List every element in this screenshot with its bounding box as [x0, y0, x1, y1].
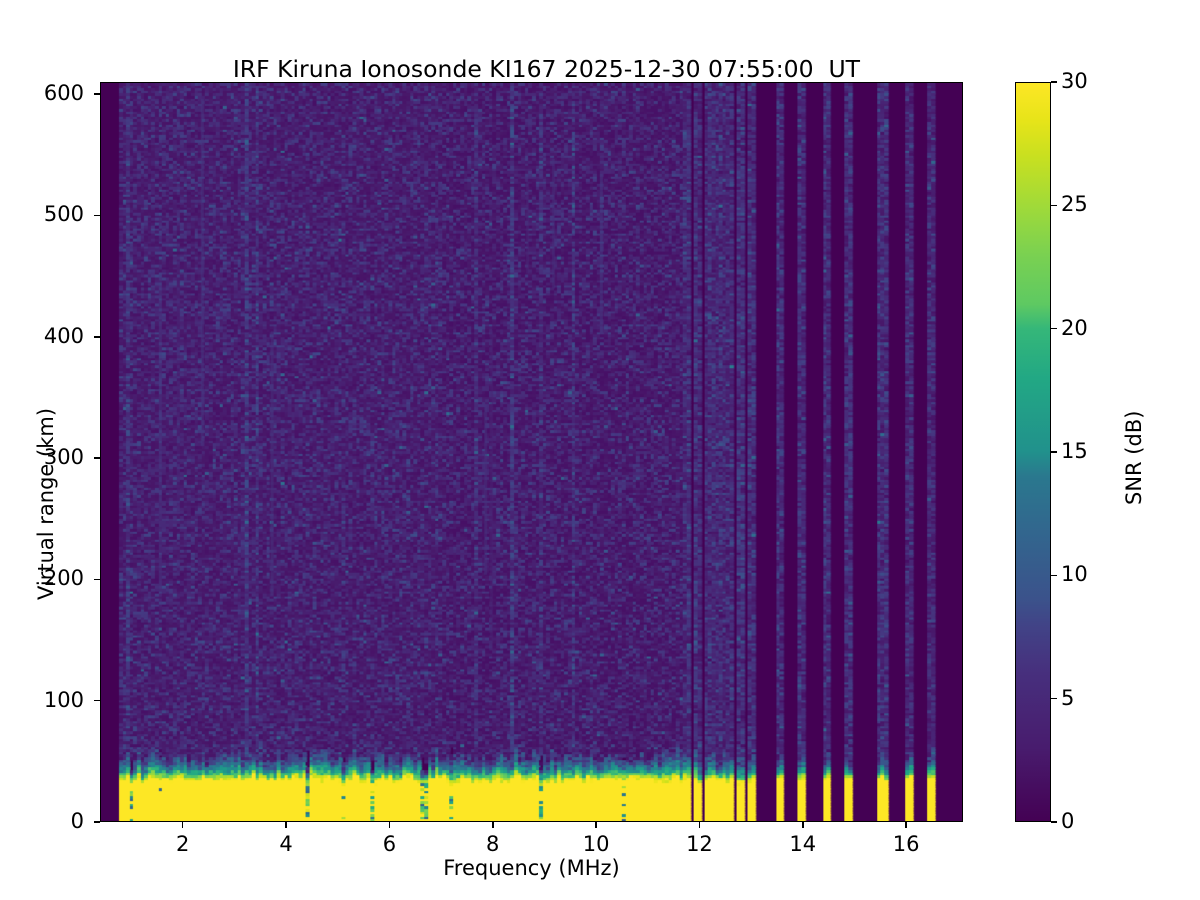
colorbar-tick-label: 15 [1061, 439, 1088, 463]
y-tick-mark [94, 821, 100, 823]
y-tick-label: 0 [0, 809, 84, 833]
colorbar-gradient [1015, 82, 1051, 822]
y-axis-label: Virtual range (km) [34, 408, 58, 600]
colorbar-tick-mark [1051, 821, 1057, 823]
y-tick-mark [94, 700, 100, 702]
y-tick-mark [94, 93, 100, 95]
y-tick-label: 500 [0, 202, 84, 226]
x-tick-mark [595, 822, 597, 828]
x-tick-label: 12 [659, 832, 739, 856]
colorbar-tick-label: 30 [1061, 69, 1088, 93]
y-tick-label: 600 [0, 81, 84, 105]
colorbar-tick-mark [1051, 81, 1057, 83]
x-tick-mark [699, 822, 701, 828]
colorbar-tick-label: 10 [1061, 562, 1088, 586]
x-tick-label: 14 [763, 832, 843, 856]
colorbar-tick-mark [1051, 205, 1057, 207]
x-tick-mark [492, 822, 494, 828]
colorbar-tick-label: 5 [1061, 686, 1074, 710]
x-tick-mark [389, 822, 391, 828]
ionogram-figure: IRF Kiruna Ionosonde KI167 2025-12-30 07… [0, 0, 1200, 900]
x-tick-label: 4 [246, 832, 326, 856]
x-tick-label: 10 [556, 832, 636, 856]
x-tick-mark [182, 822, 184, 828]
x-tick-mark [802, 822, 804, 828]
x-axis-label: Frequency (MHz) [100, 856, 963, 880]
colorbar-tick-label: 25 [1061, 192, 1088, 216]
colorbar-tick-label: 20 [1061, 316, 1088, 340]
y-tick-mark [94, 457, 100, 459]
ionogram-heatmap [101, 83, 962, 821]
y-tick-label: 100 [0, 688, 84, 712]
colorbar-tick-label: 0 [1061, 809, 1074, 833]
y-tick-mark [94, 579, 100, 581]
y-tick-mark [94, 336, 100, 338]
x-tick-label: 8 [453, 832, 533, 856]
x-tick-label: 16 [866, 832, 946, 856]
x-tick-label: 2 [143, 832, 223, 856]
x-tick-label: 6 [349, 832, 429, 856]
figure-title-line1: IRF Kiruna Ionosonde KI167 2025-12-30 07… [233, 55, 860, 83]
colorbar-tick-mark [1051, 328, 1057, 330]
colorbar-tick-mark [1051, 451, 1057, 453]
y-tick-mark [94, 215, 100, 217]
plot-axes [100, 82, 963, 822]
colorbar-label: SNR (dB) [1122, 411, 1146, 505]
y-tick-label: 400 [0, 324, 84, 348]
x-tick-mark [285, 822, 287, 828]
colorbar-tick-mark [1051, 698, 1057, 700]
x-tick-mark [905, 822, 907, 828]
colorbar-tick-mark [1051, 575, 1057, 577]
